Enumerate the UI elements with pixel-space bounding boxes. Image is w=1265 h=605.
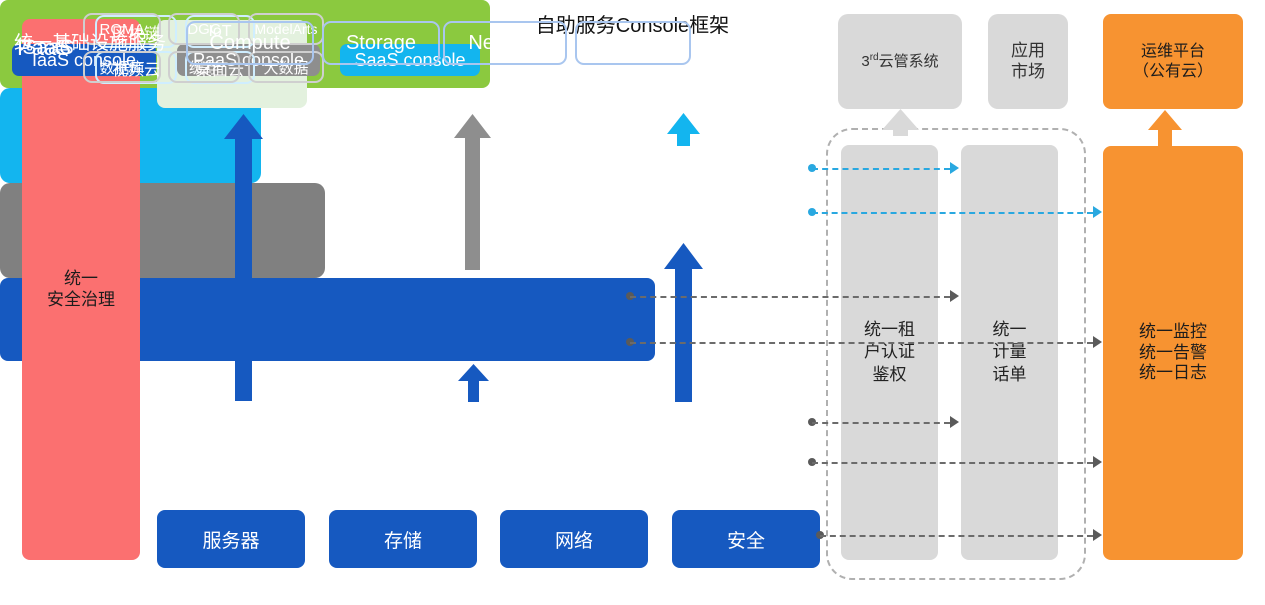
connector-arrowhead-hardware-to-ops	[1093, 529, 1102, 541]
third-party-label: 3rd云管系统	[861, 52, 938, 71]
connector-line-saas-to-ops	[812, 212, 1093, 214]
arrow-saas-to-console	[667, 113, 700, 146]
ops-platform-public-cloud-box: 运维平台（公有云）	[1103, 14, 1243, 109]
ops-panel-label: 统一监控统一告警统一日志	[1139, 322, 1207, 384]
metering-column-label: 统一计量话单	[993, 319, 1027, 385]
app-market-box: 应用市场	[988, 14, 1068, 109]
hardware-box-server[interactable]: 服务器	[157, 510, 305, 568]
infrastructure-layer-label: 统一基础设施服务	[14, 0, 166, 83]
arrow-ops-panel-to-ops-platform	[1148, 110, 1182, 146]
infra-service-storage[interactable]: Storage	[322, 21, 440, 65]
unified-security-governance-panel: 统一安全治理	[22, 19, 140, 560]
security-panel-label: 统一安全治理	[47, 269, 115, 310]
infra-service-compute[interactable]: Compute	[186, 21, 314, 65]
arrow-infra-to-saas	[664, 243, 703, 402]
connector-arrowhead-saas-to-ops	[1093, 206, 1102, 218]
connector-arrowhead-paas-to-ops	[1093, 336, 1102, 348]
infra-service-cce[interactable]: CCE	[575, 21, 691, 65]
ops-platform-label: 运维平台（公有云）	[1133, 42, 1213, 81]
arrow-paas-to-console	[454, 114, 491, 270]
unified-tenant-auth-column: 统一租户认证鉴权	[841, 145, 938, 560]
arrow-infra-to-paas	[458, 364, 489, 402]
connector-arrowhead-saas-to-auth	[950, 162, 959, 174]
architecture-diagram: 统一安全治理 API网关 自助服务Console框架 IaaS console …	[0, 0, 1265, 605]
connector-line-infra-to-ops	[812, 462, 1093, 464]
connector-arrowhead-infra-to-auth	[950, 416, 959, 428]
unified-metering-billing-column: 统一计量话单	[961, 145, 1058, 560]
unified-monitoring-panel: 统一监控统一告警统一日志	[1103, 146, 1243, 560]
hardware-box-storage[interactable]: 存储	[329, 510, 477, 568]
connector-line-paas-to-ops	[630, 342, 1093, 344]
third-party-cloud-management-system-box: 3rd云管系统	[838, 14, 962, 109]
connector-line-hardware-to-ops	[820, 535, 1093, 537]
infra-service-network[interactable]: Network	[443, 21, 567, 65]
auth-column-label: 统一租户认证鉴权	[864, 319, 915, 385]
connector-arrowhead-paas-to-auth	[950, 290, 959, 302]
connector-line-infra-to-auth	[812, 422, 950, 424]
connector-line-saas-to-auth	[812, 168, 950, 170]
hardware-box-security[interactable]: 安全	[672, 510, 820, 568]
connector-arrowhead-infra-to-ops	[1093, 456, 1102, 468]
hardware-box-network[interactable]: 网络	[500, 510, 648, 568]
connector-line-paas-to-auth	[630, 296, 950, 298]
app-market-label: 应用市场	[1011, 41, 1045, 82]
